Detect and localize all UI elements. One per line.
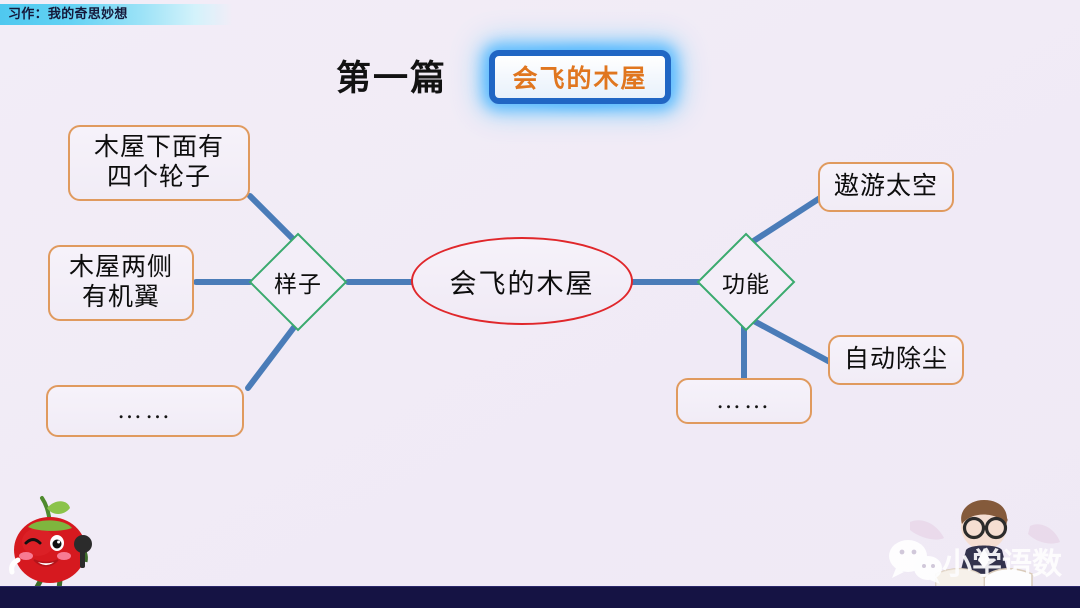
leaf-box-right-top[interactable]: 遨游太空 xyxy=(818,162,954,212)
center-node-label: 会飞的木屋 xyxy=(450,262,595,301)
center-node[interactable]: 会飞的木屋 xyxy=(411,237,633,325)
branch-label-function: 功能 xyxy=(696,232,796,332)
branch-label-appearance: 样子 xyxy=(248,232,348,332)
brand-watermark: 小学语数 xyxy=(880,482,1076,602)
leaf-box-left-top[interactable]: 木屋下面有 四个轮子 xyxy=(68,125,250,201)
branch-node-function[interactable]: 功能 xyxy=(696,232,796,332)
leaf-box-left-mid[interactable]: 木屋两侧 有机翼 xyxy=(48,245,194,321)
slide-canvas: 习作：我的奇思妙想 第一篇 会飞的木屋 木屋下面有 四个轮子 木屋两侧 有机翼 … xyxy=(0,0,1080,608)
brand-watermark-text: 小学语数 xyxy=(942,547,1063,581)
leaf-box-right-bottom[interactable]: …… xyxy=(676,378,812,424)
branch-node-appearance[interactable]: 样子 xyxy=(248,232,348,332)
leaf-box-right-mid[interactable]: 自动除尘 xyxy=(828,335,964,385)
leaf-box-left-bottom[interactable]: …… xyxy=(46,385,244,437)
bottom-bar xyxy=(0,586,1080,608)
